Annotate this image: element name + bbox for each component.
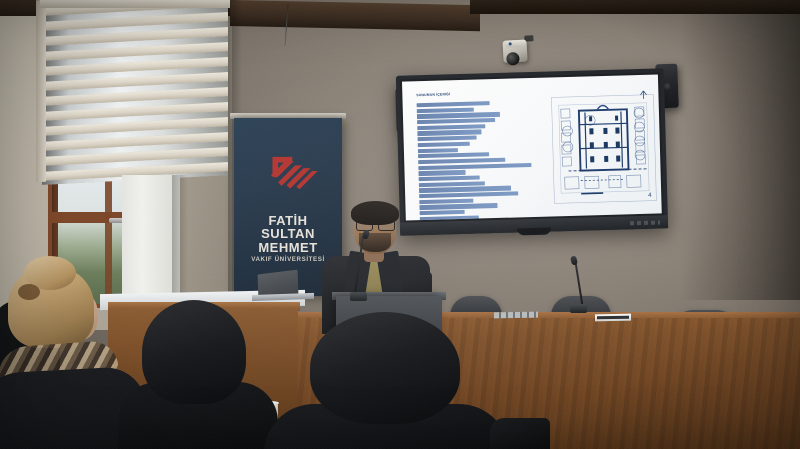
presentation-slide: SUNUMUN İÇERİĞİ — [402, 74, 662, 220]
slide-bullet-row — [419, 191, 518, 198]
slide-bullet-row — [418, 148, 458, 153]
slide-bullet-row — [418, 136, 477, 142]
slide-bullet-row — [418, 170, 465, 176]
slide-bullet-row — [419, 175, 480, 181]
audience-dark-hair — [286, 312, 501, 449]
ceiling-camera — [502, 35, 533, 65]
display-ports-icon[interactable] — [630, 220, 660, 225]
audience-black-headscarf — [126, 300, 261, 449]
audience-headscarf — [142, 300, 246, 404]
nameplate — [595, 314, 631, 322]
architectural-floor-plan: 4 — [548, 89, 659, 210]
fsm-calligraphy-logo — [253, 136, 324, 207]
interactive-flat-panel[interactable]: SUNUMUN İÇERİĞİ — [396, 68, 668, 235]
ceiling-beam-center — [230, 0, 480, 31]
camera-body — [502, 40, 527, 63]
speaker-cone-icon — [663, 82, 670, 89]
display-ir-receiver-icon — [517, 227, 551, 235]
ceiling-beam-right — [470, 0, 800, 14]
display-bezel: SUNUMUN İÇERİĞİ — [400, 72, 664, 222]
plan-figure-label: 4 — [648, 193, 652, 199]
audience-blonde-bun — [0, 266, 126, 449]
camera-lens-icon — [506, 52, 520, 66]
slide-title: SUNUMUN İÇERİĞİ — [416, 92, 450, 97]
presenter-hair — [351, 201, 399, 225]
audience-bag — [490, 418, 550, 449]
slide-bullet-row — [417, 101, 490, 107]
mic-base — [570, 304, 587, 313]
audience-hair-band — [18, 284, 40, 300]
right-wall-shadow — [680, 0, 800, 300]
slide-bullet-row — [418, 142, 470, 148]
audience-hair — [310, 312, 460, 424]
blinds-side-edge — [36, 0, 46, 182]
camera-led-icon — [509, 42, 512, 45]
mic-base — [350, 292, 367, 301]
conference-presentation-photo: FATİH SULTAN MEHMET VAKIF ÜNİVERSİTESİ S… — [0, 0, 800, 449]
nameplate-strip — [597, 316, 629, 320]
slide-bullet-list — [417, 100, 539, 221]
blinds-head-rail — [40, 0, 230, 8]
venetian-blinds[interactable] — [42, 0, 228, 185]
